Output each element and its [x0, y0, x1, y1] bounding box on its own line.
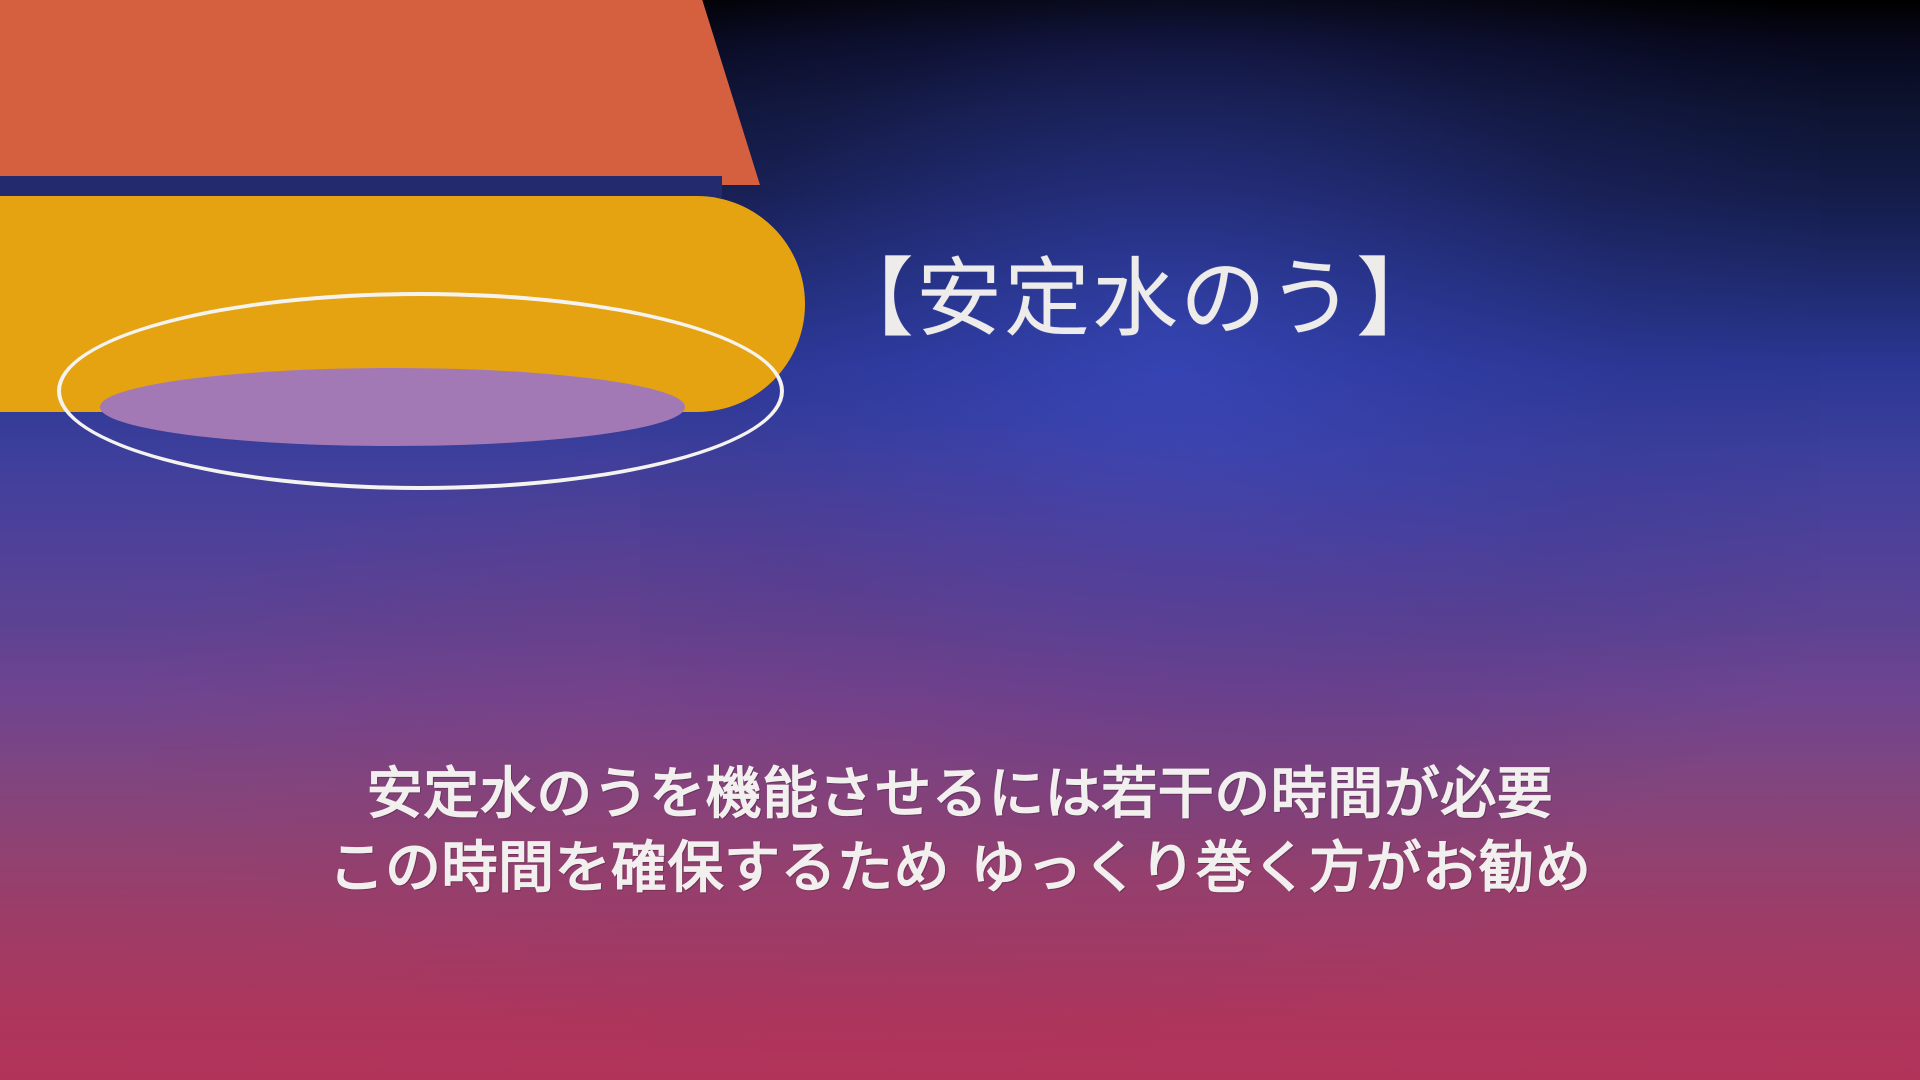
orange-slab-shape — [0, 0, 760, 185]
navy-stripe-shape — [0, 176, 722, 198]
caption-block: 安定水のうを機能させるには若干の時間が必要 この時間を確保するため ゆっくり巻く… — [0, 758, 1920, 907]
caption-line-1: 安定水のうを機能させるには若干の時間が必要 — [0, 758, 1920, 832]
slide-canvas: 【安定水のう】 安定水のうを機能させるには若干の時間が必要 この時間を確保するた… — [0, 0, 1920, 1080]
page-title: 【安定水のう】 — [828, 253, 1444, 346]
white-highlight-ellipse-icon — [57, 292, 784, 490]
caption-line-2: この時間を確保するため ゆっくり巻く方がお勧め — [0, 832, 1920, 906]
